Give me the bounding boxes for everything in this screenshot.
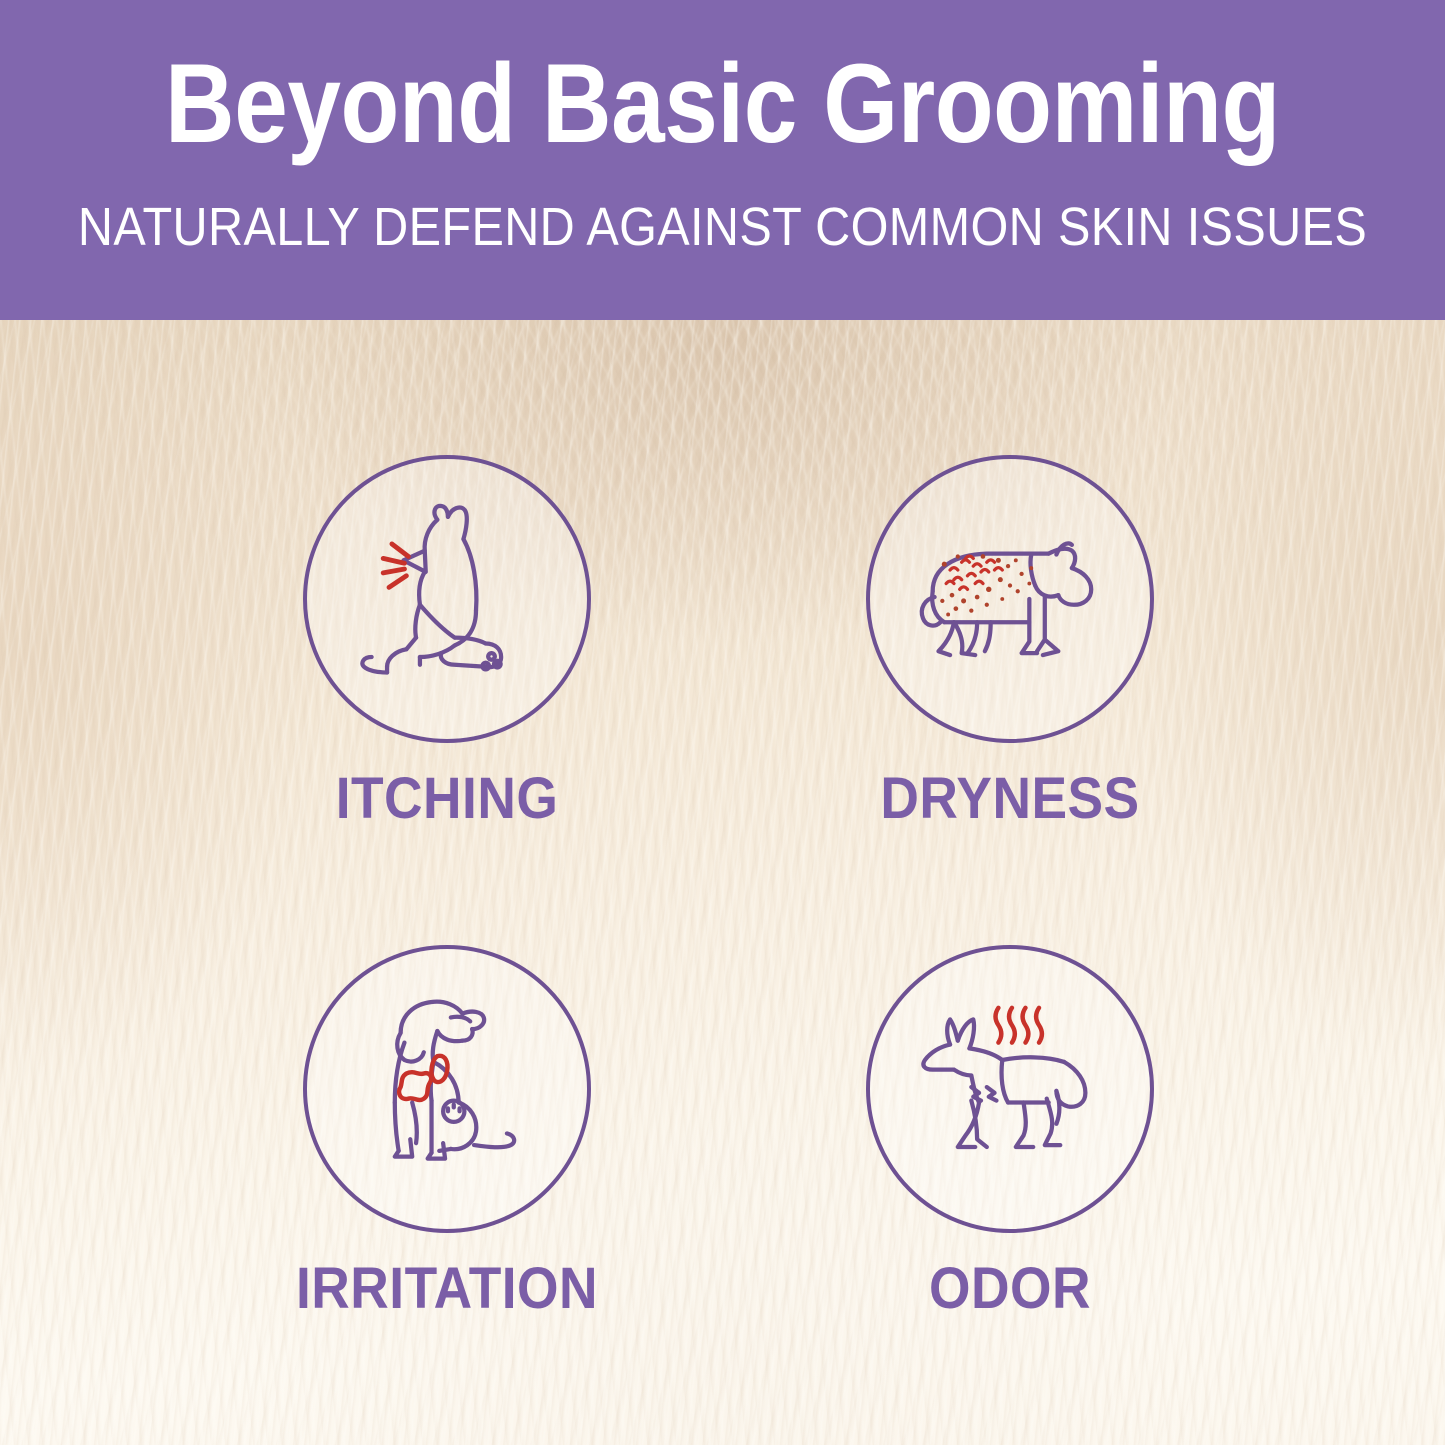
benefit-item-irritation: IRRITATION — [237, 945, 657, 1319]
dog-odor-waves-icon — [894, 973, 1126, 1205]
page-title: Beyond Basic Grooming — [101, 46, 1344, 162]
dog-dandruff-flakes-icon — [894, 483, 1126, 715]
benefit-circle-itching — [303, 455, 591, 743]
page-subtitle: NATURALLY DEFEND AGAINST COMMON SKIN ISS… — [72, 198, 1373, 256]
odor-waves — [996, 1008, 1042, 1043]
header-band: Beyond Basic Grooming NATURALLY DEFEND A… — [0, 0, 1445, 320]
itch-lines — [383, 544, 408, 588]
benefit-label-itching: ITCHING — [254, 769, 640, 829]
marketing-infographic: Beyond Basic Grooming NATURALLY DEFEND A… — [0, 0, 1445, 1445]
benefit-label-odor: ODOR — [817, 1259, 1203, 1319]
dog-scratching-icon — [331, 483, 563, 715]
benefits-grid: ITCHING — [0, 320, 1445, 1445]
benefit-circle-odor — [866, 945, 1154, 1233]
benefit-circle-irritation — [303, 945, 591, 1233]
benefit-label-dryness: DRYNESS — [817, 769, 1203, 829]
benefit-item-itching: ITCHING — [237, 455, 657, 829]
benefit-label-irritation: IRRITATION — [254, 1259, 640, 1319]
benefit-item-dryness: DRYNESS — [800, 455, 1220, 829]
dog-irritated-skin-patch-icon — [331, 973, 563, 1205]
benefit-circle-dryness — [866, 455, 1154, 743]
benefit-item-odor: ODOR — [800, 945, 1220, 1319]
